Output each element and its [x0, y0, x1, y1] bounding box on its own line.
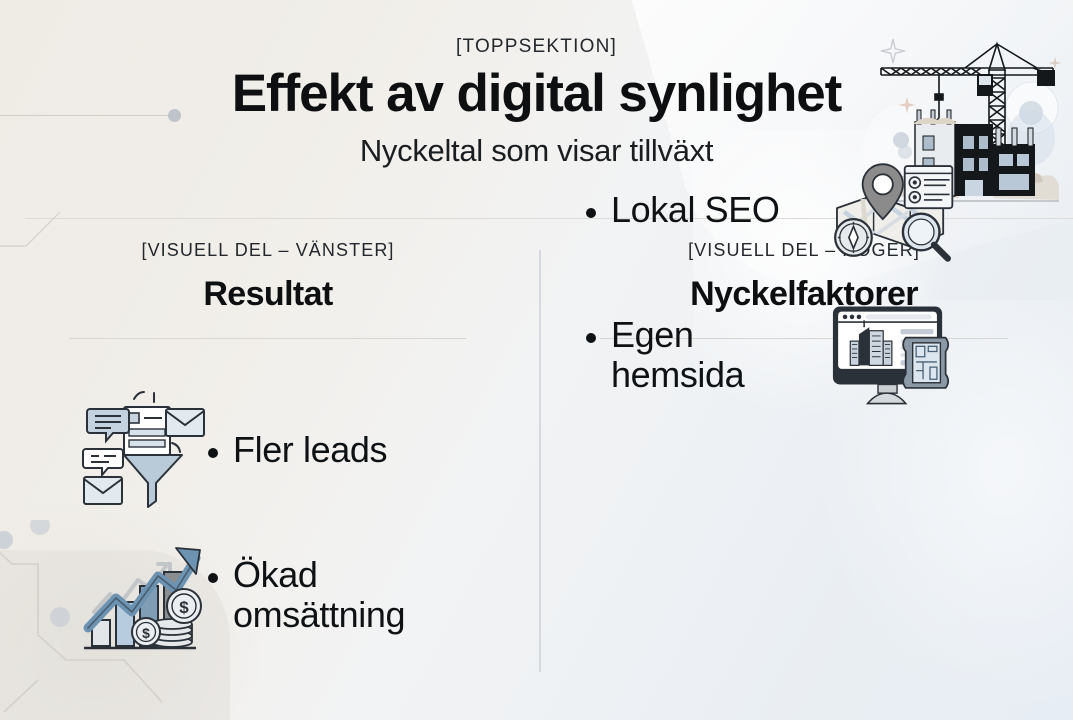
header-eyebrow: [TOPPSEKTION] — [0, 36, 1073, 58]
column-left-eyebrow: [VISUELL DEL – VÄNSTER] — [0, 240, 536, 261]
list-item[interactable]: $ $ Ökad omsättning — [78, 535, 463, 655]
list-item[interactable]: Fler leads — [78, 390, 387, 510]
map-location-seo-icon — [826, 150, 956, 270]
svg-text:$: $ — [179, 598, 189, 617]
list-item-label: Egen hemsida — [611, 315, 826, 396]
list-item-text: Egen hemsida — [586, 315, 826, 396]
bullet-dot-icon — [586, 333, 596, 343]
list-item[interactable]: Lokal SEO — [586, 150, 956, 270]
growth-chart-icon: $ $ — [78, 535, 208, 655]
desktop-website-icon — [826, 295, 956, 415]
bullet-dot-icon — [586, 208, 596, 218]
bullet-dot-icon — [208, 448, 218, 458]
infographic-slide: [TOPPSEKTION] Effekt av digital synlighe… — [0, 0, 1073, 720]
page-title: Effekt av digital synlighet — [0, 64, 1073, 123]
column-left-rule — [69, 338, 467, 339]
list-item-text: Lokal SEO — [586, 190, 826, 230]
list-item-label: Ökad omsättning — [233, 555, 463, 636]
list-item-label: Lokal SEO — [611, 190, 826, 230]
list-item-text: Fler leads — [208, 430, 387, 470]
column-left: [VISUELL DEL – VÄNSTER] Resultat — [0, 240, 536, 710]
list-item-text: Ökad omsättning — [208, 555, 463, 636]
column-left-title: Resultat — [0, 275, 536, 314]
svg-text:$: $ — [142, 625, 150, 641]
bullet-dot-icon — [208, 573, 218, 583]
list-item[interactable]: Egen hemsida — [586, 295, 956, 415]
list-item-label: Fler leads — [233, 430, 387, 470]
lead-funnel-icon — [78, 390, 208, 510]
